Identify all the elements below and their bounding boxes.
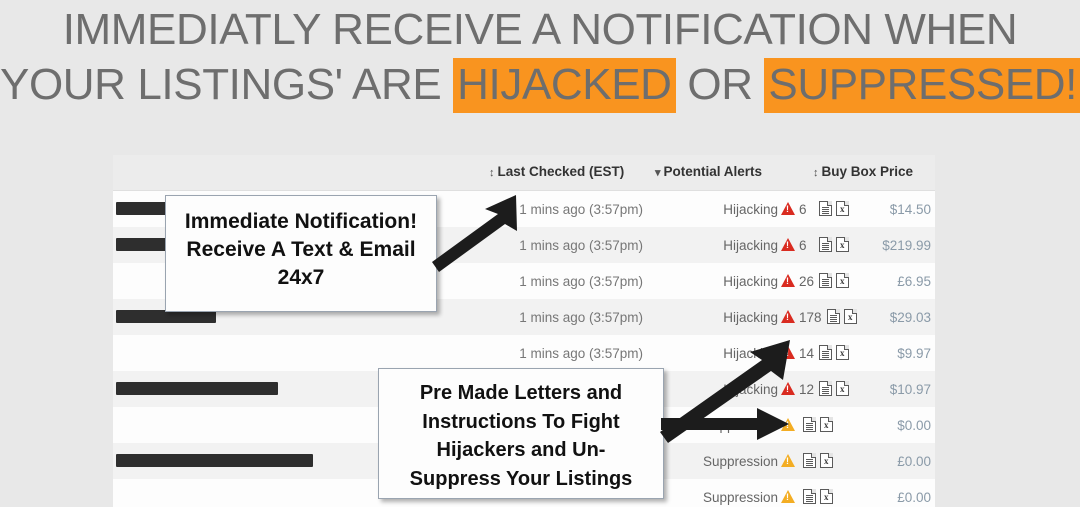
callout-2-line-3: Hijackers and Un- [379, 436, 663, 465]
cell-last-checked: 1 mins ago (3:57pm) [401, 238, 643, 253]
column-header-potential-alerts-label: Potential Alerts [664, 164, 763, 179]
column-header-buy-box-price[interactable]: ↕Buy Box Price [813, 164, 913, 179]
column-header-last-checked[interactable]: ↕Last Checked (EST) [489, 164, 624, 179]
cell-alert-type: Suppression [653, 454, 778, 469]
headline-text-before: YOUR LISTINGS' ARE [0, 60, 453, 109]
callout-1-line-2: Receive A Text & Email [166, 236, 436, 264]
column-header-buy-box-price-label: Buy Box Price [822, 164, 914, 179]
warning-triangle-icon [781, 274, 796, 288]
redacted-listing-name [116, 454, 313, 467]
cell-buy-box-price: $219.99 [813, 238, 931, 253]
headline-line-2: YOUR LISTINGS' ARE HIJACKED OR SUPPRESSE… [0, 57, 1080, 112]
cell-alert-type: Suppression [653, 418, 778, 433]
page-headline: IMMEDIATLY RECEIVE A NOTIFICATION WHEN Y… [0, 0, 1080, 112]
table-row[interactable]: 1 mins ago (3:57pm)Hijacking14x$9.97 [113, 335, 935, 371]
sort-desc-icon: ▾ [655, 167, 661, 179]
sort-both-icon: ↕ [489, 167, 495, 179]
cell-alert-type: Hijacking [653, 346, 778, 361]
cell-last-checked: 1 mins ago (3:57pm) [401, 346, 643, 361]
headline-line-1: IMMEDIATLY RECEIVE A NOTIFICATION WHEN [0, 0, 1080, 57]
headline-text-middle: OR [676, 60, 765, 109]
cell-alert-type: Hijacking [653, 202, 778, 217]
cell-alert-type: Hijacking [653, 382, 778, 397]
callout-2-line-2: Instructions To Fight [379, 408, 663, 437]
warning-triangle-icon [781, 202, 796, 216]
cell-alert-type: Hijacking [653, 238, 778, 253]
redacted-listing-name [116, 382, 278, 395]
cell-alert-type: Suppression [653, 490, 778, 505]
callout-pre-made-letters: Pre Made Letters and Instructions To Fig… [378, 368, 664, 499]
callout-immediate-notification: Immediate Notification! Receive A Text &… [165, 195, 437, 312]
cell-last-checked: 1 mins ago (3:57pm) [401, 310, 643, 325]
warning-triangle-icon [781, 310, 796, 324]
callout-1-line-1: Immediate Notification! [166, 208, 436, 236]
cell-last-checked: 1 mins ago (3:57pm) [401, 274, 643, 289]
cell-buy-box-price: £0.00 [813, 454, 931, 469]
warning-triangle-icon [781, 454, 796, 468]
cell-buy-box-price: £0.00 [813, 490, 931, 505]
column-header-potential-alerts[interactable]: ▾Potential Alerts [655, 164, 762, 179]
cell-buy-box-price: $29.03 [813, 310, 931, 325]
table-header-row: ↕Last Checked (EST) ▾Potential Alerts ↕B… [113, 155, 935, 191]
callout-2-line-4: Suppress Your Listings [379, 465, 663, 494]
headline-highlight-hijacked: HIJACKED [453, 58, 675, 113]
cell-buy-box-price: $14.50 [813, 202, 931, 217]
callout-1-line-3: 24x7 [166, 264, 436, 292]
cell-buy-box-price: $0.00 [813, 418, 931, 433]
cell-buy-box-price: $10.97 [813, 382, 931, 397]
sort-both-icon: ↕ [813, 167, 819, 179]
column-header-last-checked-label: Last Checked (EST) [498, 164, 625, 179]
cell-buy-box-price: $9.97 [813, 346, 931, 361]
warning-triangle-icon [781, 346, 796, 360]
warning-triangle-icon [781, 382, 796, 396]
warning-triangle-icon [781, 490, 796, 504]
callout-2-line-1: Pre Made Letters and [379, 379, 663, 408]
warning-triangle-icon [781, 238, 796, 252]
warning-triangle-icon [781, 418, 796, 432]
cell-alert-type: Hijacking [653, 274, 778, 289]
cell-buy-box-price: £6.95 [813, 274, 931, 289]
cell-last-checked: 1 mins ago (3:57pm) [401, 202, 643, 217]
cell-alert-type: Hijacking [653, 310, 778, 325]
headline-highlight-suppressed: SUPPRESSED! [764, 58, 1080, 113]
